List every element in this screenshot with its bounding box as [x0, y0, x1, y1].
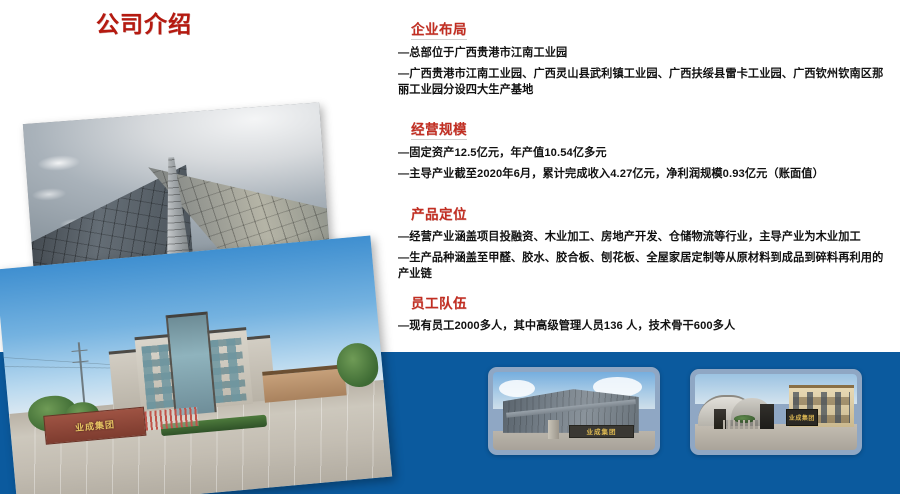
section-business-scale: 经营规模 —固定资产12.5亿元，年产值10.54亿多元 —主导产业截至2020…: [398, 118, 893, 182]
page-title: 公司介绍: [96, 5, 192, 39]
section-heading: 员工队伍: [411, 292, 467, 313]
section-heading: 企业布局: [411, 18, 467, 40]
company-sign-board: 业成集团: [569, 425, 634, 437]
warehouse-photo: 业成集团: [488, 367, 660, 455]
section-line: —现有员工2000多人，其中高级管理人员136 人，技术骨干600多人: [398, 318, 893, 334]
section-line: —经营产业涵盖项目投融资、木业加工、房地产开发、仓储物流等行业，主导产业为木业加…: [398, 229, 893, 245]
section-line: —生产品种涵盖至甲醛、胶水、胶合板、刨花板、全屋家居定制等从原材料到成品到碎料再…: [398, 250, 893, 282]
photo-inner: 业成集团: [493, 372, 655, 450]
section-heading: 经营规模: [411, 118, 467, 140]
section-line: —主导产业截至2020年6月，累计完成收入4.27亿元，净利润规模0.93亿元（…: [398, 166, 893, 182]
company-sign-board: 业成集团: [786, 409, 818, 426]
cloud-shape: [37, 154, 80, 172]
office-building-photo: 业成集团: [0, 235, 392, 494]
company-sign-text: 业成集团: [789, 413, 815, 422]
photo-inner: 业成集团: [695, 374, 857, 450]
company-sign-text: 业成集团: [74, 417, 115, 434]
gate-pillar: [548, 420, 559, 439]
section-line: —固定资产12.5亿元，年产值10.54亿多元: [398, 145, 893, 161]
section-product-positioning: 产品定位 —经营产业涵盖项目投融资、木业加工、房地产开发、仓储物流等行业，主导产…: [398, 203, 893, 282]
section-staff-team: 员工队伍 —现有员工2000多人，其中高级管理人员136 人，技术骨干600多人: [398, 292, 893, 334]
section-heading: 产品定位: [411, 203, 467, 224]
cloud-shape: [32, 187, 67, 201]
factory-gate-photo: 业成集团: [690, 369, 862, 455]
slide-root: 公司介绍 业成集团 企业布局 —总部位于广西贵港市江南工业园: [0, 0, 900, 494]
company-sign-text: 业成集团: [587, 426, 617, 436]
gate-post: [760, 404, 775, 428]
section-line: —广西贵港市江南工业园、广西灵山县武利镇工业园、广西扶绥县雷卡工业园、广西钦州钦…: [398, 66, 893, 98]
section-line: —总部位于广西贵港市江南工业园: [398, 45, 893, 61]
gate-bars: [723, 420, 759, 429]
section-enterprise-layout: 企业布局 —总部位于广西贵港市江南工业园 —广西贵港市江南工业园、广西灵山县武利…: [398, 18, 893, 98]
cloud-shape: [499, 380, 535, 397]
